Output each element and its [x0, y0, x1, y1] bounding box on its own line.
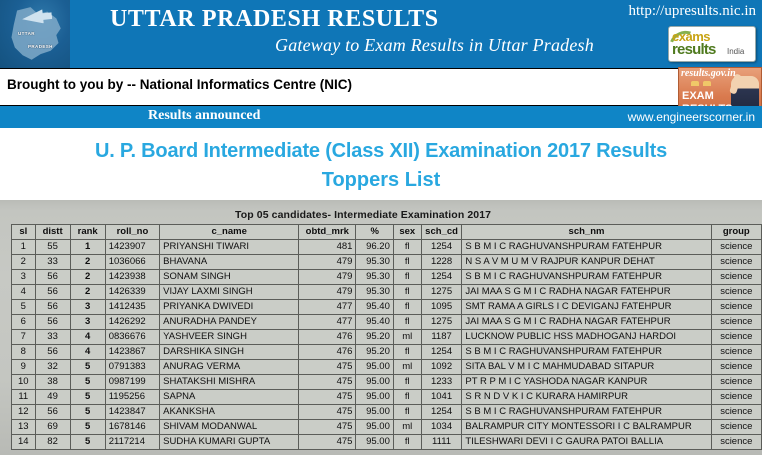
cell-group: science [711, 360, 761, 375]
cell-roll-no: 0836676 [105, 330, 159, 345]
cell-pct: 95.20 [356, 345, 393, 360]
cell-sch-cd: 1275 [421, 315, 462, 330]
cell-rank: 2 [70, 255, 105, 270]
cell-rank: 2 [70, 285, 105, 300]
table-row[interactable]: 93250791383ANURAG VERMA47595.00ml1092SIT… [12, 360, 762, 375]
cell-c-name: SAPNA [160, 390, 299, 405]
column-header-sl[interactable]: sl [12, 225, 36, 240]
cell-rank: 2 [70, 270, 105, 285]
badge-line-exam: EXAM [682, 90, 714, 102]
cell-sch-nm: SMT RAMA A GIRLS I C DEVIGANJ FATEHPUR [462, 300, 711, 315]
table-row[interactable]: 125651423847AKANKSHA47595.00fl1254S B M … [12, 405, 762, 420]
cell-roll-no: 1426292 [105, 315, 159, 330]
uttar-pradesh-map-icon: UTTAR PRADESH [0, 0, 70, 68]
cell-sl: 1 [12, 240, 36, 255]
cell-rank: 5 [70, 360, 105, 375]
table-row[interactable]: 148252117214SUDHA KUMARI GUPTA47595.00fl… [12, 435, 762, 450]
cell-sch-nm: S R N D V K I C KURARA HAMIRPUR [462, 390, 711, 405]
table-row[interactable]: 103850987199SHATAKSHI MISHRA47595.00fl12… [12, 375, 762, 390]
cell-c-name: AKANKSHA [160, 405, 299, 420]
cell-c-name: PRIYANKA DWIVEDI [160, 300, 299, 315]
cell-c-name: ANURADHA PANDEY [160, 315, 299, 330]
cell-obtd-mrk: 475 [299, 405, 356, 420]
cell-distt: 69 [35, 420, 70, 435]
cell-distt: 49 [35, 390, 70, 405]
column-header-roll-no[interactable]: roll_no [105, 225, 159, 240]
badge-url-text: results.gov.in [681, 68, 736, 79]
cell-sex: fl [393, 300, 421, 315]
cell-c-name: SUDHA KUMARI GUPTA [160, 435, 299, 450]
cell-sl: 9 [12, 360, 36, 375]
cell-distt: 33 [35, 330, 70, 345]
site-banner: UTTAR PRADESH UTTAR PRADESH RESULTS Gate… [0, 0, 762, 68]
cell-roll-no: 0987199 [105, 375, 159, 390]
cell-group: science [711, 435, 761, 450]
cell-sex: ml [393, 360, 421, 375]
cell-distt: 56 [35, 270, 70, 285]
cell-obtd-mrk: 475 [299, 390, 356, 405]
results-announced-bar: Results announced www.engineerscorner.in [0, 106, 762, 128]
cell-distt: 56 [35, 315, 70, 330]
cell-sch-cd: 1275 [421, 285, 462, 300]
column-header-sch-cd[interactable]: sch_cd [421, 225, 462, 240]
cell-sex: ml [393, 420, 421, 435]
exams-results-india-logo[interactable]: exams results India [668, 26, 756, 62]
banner-subtitle: Gateway to Exam Results in Uttar Pradesh [275, 35, 594, 56]
cell-sch-cd: 1092 [421, 360, 462, 375]
cell-group: science [711, 375, 761, 390]
cell-sex: fl [393, 285, 421, 300]
cell-obtd-mrk: 479 [299, 285, 356, 300]
cell-c-name: SHIVAM MODANWAL [160, 420, 299, 435]
cell-distt: 56 [35, 405, 70, 420]
cell-group: science [711, 345, 761, 360]
cell-sl: 3 [12, 270, 36, 285]
cell-sch-cd: 1233 [421, 375, 462, 390]
cell-pct: 95.20 [356, 330, 393, 345]
table-caption: Top 05 candidates- Intermediate Examinat… [235, 209, 491, 221]
toppers-table-scan: Top 05 candidates- Intermediate Examinat… [0, 200, 762, 455]
cell-obtd-mrk: 475 [299, 435, 356, 450]
cell-pct: 95.40 [356, 315, 393, 330]
cell-sl: 5 [12, 300, 36, 315]
cell-sch-nm: S B M I C RAGHUVANSHPURAM FATEHPUR [462, 405, 711, 420]
cell-obtd-mrk: 476 [299, 345, 356, 360]
nic-credit-text: Brought to you by -- National Informatic… [7, 77, 352, 92]
cell-pct: 95.00 [356, 375, 393, 390]
table-row[interactable]: 73340836676YASHVEER SINGH47695.20ml1187L… [12, 330, 762, 345]
column-header-distt[interactable]: distt [35, 225, 70, 240]
cell-roll-no: 1423938 [105, 270, 159, 285]
cell-sch-cd: 1228 [421, 255, 462, 270]
cell-sl: 10 [12, 375, 36, 390]
cell-c-name: DARSHIKA SINGH [160, 345, 299, 360]
cell-group: science [711, 255, 761, 270]
cell-sl: 2 [12, 255, 36, 270]
map-label-pradesh: PRADESH [28, 44, 53, 49]
cell-obtd-mrk: 479 [299, 270, 356, 285]
cell-sex: fl [393, 255, 421, 270]
cell-sch-nm: S B M I C RAGHUVANSHPURAM FATEHPUR [462, 345, 711, 360]
table-row[interactable]: 15511423907PRIYANSHI TIWARI48196.20fl125… [12, 240, 762, 255]
cell-pct: 95.30 [356, 285, 393, 300]
cell-obtd-mrk: 479 [299, 255, 356, 270]
page-title: U. P. Board Intermediate (Class XII) Exa… [0, 128, 762, 200]
logo-text-india: India [727, 47, 744, 56]
column-header-obtd-mrk[interactable]: obtd_mrk [299, 225, 356, 240]
cell-distt: 56 [35, 285, 70, 300]
cell-obtd-mrk: 475 [299, 360, 356, 375]
cell-roll-no: 1423907 [105, 240, 159, 255]
cell-pct: 95.00 [356, 420, 393, 435]
graduation-cap-icon-2 [703, 81, 711, 86]
cell-rank: 4 [70, 345, 105, 360]
cell-rank: 5 [70, 390, 105, 405]
column-header-percent[interactable]: % [356, 225, 393, 240]
cell-pct: 95.00 [356, 405, 393, 420]
nic-credit-strip: Brought to you by -- National Informatic… [0, 68, 762, 106]
cell-c-name: VIJAY LAXMI SINGH [160, 285, 299, 300]
column-header-c-name[interactable]: c_name [160, 225, 299, 240]
banner-title: UTTAR PRADESH RESULTS [110, 6, 439, 33]
cell-c-name: YASHVEER SINGH [160, 330, 299, 345]
cell-group: science [711, 270, 761, 285]
cell-distt: 82 [35, 435, 70, 450]
cell-c-name: ANURAG VERMA [160, 360, 299, 375]
cell-c-name: BHAVANA [160, 255, 299, 270]
cell-sl: 11 [12, 390, 36, 405]
cell-roll-no: 1426339 [105, 285, 159, 300]
cell-obtd-mrk: 481 [299, 240, 356, 255]
cell-sex: fl [393, 240, 421, 255]
cell-sch-cd: 1095 [421, 300, 462, 315]
cell-sch-nm: JAI MAA S G M I C RADHA NAGAR FATEHPUR [462, 315, 711, 330]
cell-group: science [711, 390, 761, 405]
cell-sch-cd: 1034 [421, 420, 462, 435]
cell-sch-cd: 1254 [421, 240, 462, 255]
cell-distt: 55 [35, 240, 70, 255]
cell-rank: 1 [70, 240, 105, 255]
cell-roll-no: 1412435 [105, 300, 159, 315]
cell-roll-no: 1678146 [105, 420, 159, 435]
cell-group: science [711, 420, 761, 435]
cell-sch-nm: S B M I C RAGHUVANSHPURAM FATEHPUR [462, 240, 711, 255]
cell-rank: 5 [70, 375, 105, 390]
cell-roll-no: 0791383 [105, 360, 159, 375]
cell-sl: 12 [12, 405, 36, 420]
page-root: UTTAR PRADESH UTTAR PRADESH RESULTS Gate… [0, 0, 762, 469]
graduation-cap-icon-1 [691, 81, 699, 86]
cell-group: science [711, 330, 761, 345]
table-row[interactable]: 35621423938SONAM SINGH47995.30fl1254S B … [12, 270, 762, 285]
cell-roll-no: 1195256 [105, 390, 159, 405]
cell-sex: fl [393, 345, 421, 360]
cell-roll-no: 1423867 [105, 345, 159, 360]
cell-pct: 95.00 [356, 390, 393, 405]
cell-obtd-mrk: 475 [299, 375, 356, 390]
page-title-line-2: Toppers List [0, 166, 762, 194]
cell-sl: 13 [12, 420, 36, 435]
page-title-line-1: U. P. Board Intermediate (Class XII) Exa… [0, 136, 762, 166]
column-header-sex[interactable]: sex [393, 225, 421, 240]
cell-rank: 5 [70, 435, 105, 450]
cell-sex: fl [393, 405, 421, 420]
cell-rank: 4 [70, 330, 105, 345]
table-row[interactable]: 65631426292ANURADHA PANDEY47795.40fl1275… [12, 315, 762, 330]
cell-c-name: SONAM SINGH [160, 270, 299, 285]
cell-sl: 4 [12, 285, 36, 300]
cell-sch-nm: S B M I C RAGHUVANSHPURAM FATEHPUR [462, 270, 711, 285]
cell-sl: 8 [12, 345, 36, 360]
map-label-uttar: UTTAR [18, 31, 35, 36]
cell-pct: 95.30 [356, 255, 393, 270]
cell-sch-cd: 1041 [421, 390, 462, 405]
cell-sch-nm: N S A V M U M V RAJPUR KANPUR DEHAT [462, 255, 711, 270]
cell-sex: ml [393, 330, 421, 345]
table-header-row: sl distt rank roll_no c_name obtd_mrk % … [12, 225, 762, 240]
cell-sch-cd: 1187 [421, 330, 462, 345]
cell-distt: 33 [35, 255, 70, 270]
toppers-table: sl distt rank roll_no c_name obtd_mrk % … [11, 224, 762, 450]
table-row[interactable]: 114951195256SAPNA47595.00fl1041S R N D V… [12, 390, 762, 405]
cell-sch-nm: SITA BAL V M I C MAHMUDABAD SITAPUR [462, 360, 711, 375]
cell-sex: fl [393, 270, 421, 285]
cell-obtd-mrk: 477 [299, 315, 356, 330]
cell-sch-nm: JAI MAA S G M I C RADHA NAGAR FATEHPUR [462, 285, 711, 300]
cell-sex: fl [393, 435, 421, 450]
cell-sch-nm: LUCKNOW PUBLIC HSS MADHOGANJ HARDOI [462, 330, 711, 345]
cell-sch-nm: BALRAMPUR CITY MONTESSORI I C BALRAMPUR [462, 420, 711, 435]
cell-pct: 95.40 [356, 300, 393, 315]
results-announced-text: Results announced [148, 108, 260, 124]
table-row[interactable]: 85641423867DARSHIKA SINGH47695.20fl1254S… [12, 345, 762, 360]
cell-sch-cd: 1254 [421, 345, 462, 360]
table-row[interactable]: 55631412435PRIYANKA DWIVEDI47795.40fl109… [12, 300, 762, 315]
cell-c-name: PRIYANSHI TIWARI [160, 240, 299, 255]
cell-sch-nm: PT R P M I C YASHODA NAGAR KANPUR [462, 375, 711, 390]
cell-pct: 95.30 [356, 270, 393, 285]
cell-pct: 95.00 [356, 360, 393, 375]
cell-distt: 56 [35, 300, 70, 315]
cell-sl: 7 [12, 330, 36, 345]
cell-group: science [711, 315, 761, 330]
cell-group: science [711, 300, 761, 315]
table-body: 15511423907PRIYANSHI TIWARI48196.20fl125… [12, 240, 762, 450]
cell-group: science [711, 240, 761, 255]
logo-text-results: results [672, 41, 716, 58]
cell-sch-cd: 1254 [421, 405, 462, 420]
table-row[interactable]: 45621426339VIJAY LAXMI SINGH47995.30fl12… [12, 285, 762, 300]
cell-rank: 5 [70, 420, 105, 435]
column-header-group[interactable]: group [711, 225, 761, 240]
cell-sex: fl [393, 390, 421, 405]
cell-obtd-mrk: 477 [299, 300, 356, 315]
cell-sch-cd: 1111 [421, 435, 462, 450]
cell-obtd-mrk: 476 [299, 330, 356, 345]
cell-group: science [711, 285, 761, 300]
cell-sl: 6 [12, 315, 36, 330]
column-header-sch-nm[interactable]: sch_nm [462, 225, 711, 240]
cell-roll-no: 1036066 [105, 255, 159, 270]
cell-group: science [711, 405, 761, 420]
cell-pct: 95.00 [356, 435, 393, 450]
cell-sex: fl [393, 315, 421, 330]
cell-rank: 5 [70, 405, 105, 420]
cell-rank: 3 [70, 315, 105, 330]
cell-pct: 96.20 [356, 240, 393, 255]
cell-distt: 38 [35, 375, 70, 390]
cell-c-name: SHATAKSHI MISHRA [160, 375, 299, 390]
cell-rank: 3 [70, 300, 105, 315]
cell-sch-nm: TILESHWARI DEVI I C GAURA PATOI BALLIA [462, 435, 711, 450]
column-header-rank[interactable]: rank [70, 225, 105, 240]
cell-sl: 14 [12, 435, 36, 450]
cell-distt: 56 [35, 345, 70, 360]
cell-distt: 32 [35, 360, 70, 375]
cell-obtd-mrk: 475 [299, 420, 356, 435]
cell-sex: fl [393, 375, 421, 390]
cell-roll-no: 1423847 [105, 405, 159, 420]
table-row[interactable]: 23321036066BHAVANA47995.30fl1228N S A V … [12, 255, 762, 270]
watermark-site-link[interactable]: www.engineerscorner.in [628, 110, 755, 124]
cell-sch-cd: 1254 [421, 270, 462, 285]
site-url-link[interactable]: http://upresults.nic.in [629, 3, 757, 20]
cell-roll-no: 2117214 [105, 435, 159, 450]
table-row[interactable]: 136951678146SHIVAM MODANWAL47595.00ml103… [12, 420, 762, 435]
